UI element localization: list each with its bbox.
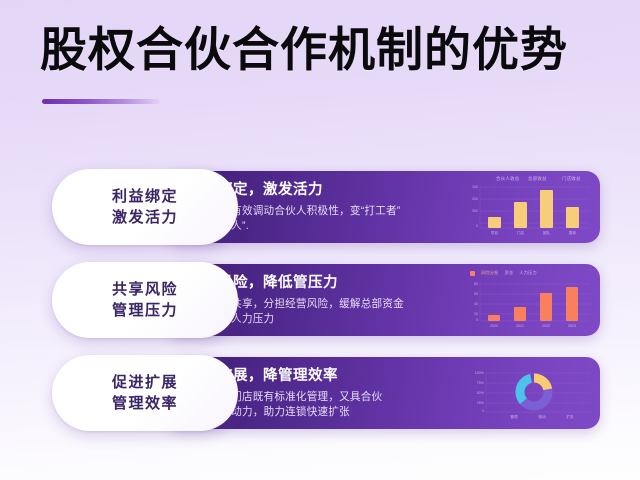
pill-line-2: 管理效率 xyxy=(112,393,178,414)
svg-text:扩张: 扩张 xyxy=(566,414,574,419)
advantage-card[interactable]: 利益绑定，激发活力 股权合伙有效调动合伙人积极性，变“打工者” 事业合伙人”. … xyxy=(52,171,600,243)
legend-label: 人力压力 xyxy=(519,270,537,276)
svg-text:0: 0 xyxy=(476,318,478,322)
bar-chart-thumbnail: 风险分担 资金 人力压力 80 60 40 xyxy=(466,268,594,332)
bar-chart-svg: 80 60 40 20 0 2020 2021 2022 xyxy=(466,268,594,332)
chart-legend: 风险分担 资金 人力压力 xyxy=(470,270,537,276)
pill-line-2: 管理压力 xyxy=(112,300,178,321)
svg-text:2020: 2020 xyxy=(490,324,498,328)
chart-top-label: 门店收益 xyxy=(562,176,581,182)
svg-text:300: 300 xyxy=(472,209,478,213)
svg-text:50%: 50% xyxy=(477,391,485,395)
svg-text:0: 0 xyxy=(476,224,478,228)
svg-text:25%: 25% xyxy=(477,401,485,405)
svg-text:60: 60 xyxy=(474,292,478,296)
pill-line-1: 利益绑定 xyxy=(112,186,178,207)
svg-text:2023: 2023 xyxy=(568,324,576,328)
svg-text:2021: 2021 xyxy=(516,324,524,328)
svg-text:200: 200 xyxy=(472,197,478,201)
bar-chart-thumbnail: 合伙人收益 总部收益 门店收益 100 200 300 0 xyxy=(466,175,594,239)
svg-text:团队: 团队 xyxy=(543,230,551,235)
svg-text:100%: 100% xyxy=(475,371,485,375)
svg-text:整体: 整体 xyxy=(569,230,577,235)
svg-text:80: 80 xyxy=(474,282,478,286)
page-header: 股权合伙合作机制的优势 xyxy=(0,0,640,120)
card-tag-pill[interactable]: 促进扩展 管理效率 xyxy=(52,355,238,431)
svg-text:75%: 75% xyxy=(477,381,485,385)
chart-top-label: 合伙人收益 xyxy=(496,176,519,182)
legend-label: 资金 xyxy=(505,270,514,276)
legend-label: 风险分担 xyxy=(481,270,499,276)
legend-swatch xyxy=(470,271,475,276)
pill-line-1: 促进扩展 xyxy=(112,372,178,393)
pill-line-2: 激发活力 xyxy=(112,207,178,228)
donut-chart-thumbnail: 100% 75% 50% 25% 0 xyxy=(466,361,594,425)
pill-line-1: 共享风险 xyxy=(112,279,178,300)
title-underline-rule xyxy=(42,99,160,104)
svg-text:项目: 项目 xyxy=(491,230,498,235)
svg-text:40: 40 xyxy=(474,302,478,306)
card-tag-pill[interactable]: 共享风险 管理压力 xyxy=(52,262,238,338)
svg-text:门店: 门店 xyxy=(517,230,525,235)
svg-text:驱动: 驱动 xyxy=(538,414,546,419)
card-tag-pill[interactable]: 利益绑定 激发活力 xyxy=(52,169,238,245)
chart-top-label: 总部收益 xyxy=(528,176,547,182)
advantage-card[interactable]: 共享风险，降低管压力 通过股权共享，分担经营风险，缓解总部资金 部资金与人力压力… xyxy=(52,264,600,336)
bar-chart-svg: 100 200 300 0 项目 门店 团队 整体 xyxy=(466,175,594,239)
advantage-card[interactable]: 促进扩展，降管理效率 股权合伙门店既有标准化管理，又具合伙 伙人人驱动力，助力连… xyxy=(52,357,600,429)
svg-text:管理: 管理 xyxy=(510,414,518,419)
donut-chart-svg: 100% 75% 50% 25% 0 xyxy=(466,361,594,425)
page-title: 股权合伙合作机制的优势 xyxy=(40,22,568,78)
svg-text:0: 0 xyxy=(482,409,484,413)
svg-text:20: 20 xyxy=(474,312,478,316)
advantage-card-list: 利益绑定，激发活力 股权合伙有效调动合伙人积极性，变“打工者” 事业合伙人”. … xyxy=(0,160,640,460)
svg-text:2022: 2022 xyxy=(542,324,550,328)
svg-text:100: 100 xyxy=(472,185,478,189)
